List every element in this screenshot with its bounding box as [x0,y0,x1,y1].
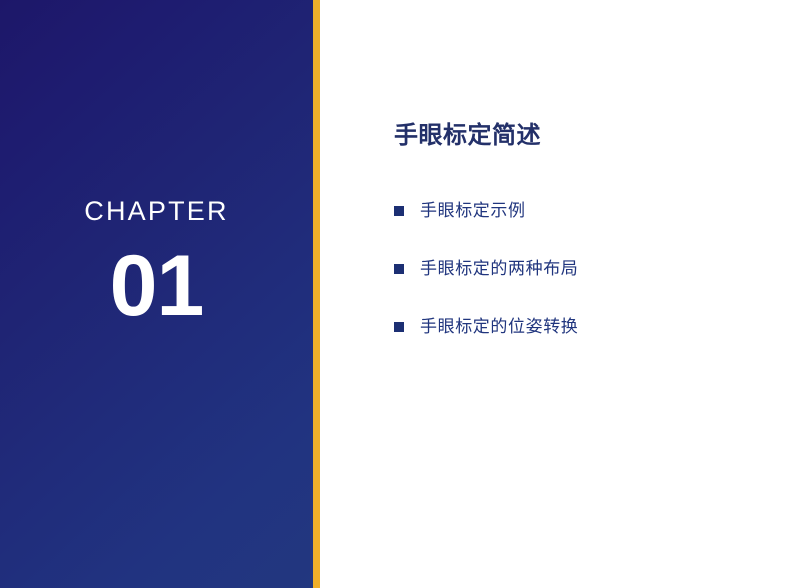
square-bullet-icon [394,264,404,274]
square-bullet-icon [394,322,404,332]
chapter-number: 01 [0,243,313,329]
list-item-label: 手眼标定的两种布局 [420,259,578,279]
chapter-divider-slide: CHAPTER 01 手眼标定简述 手眼标定示例 手眼标定的两种布局 手眼标定的… [0,0,790,588]
list-item-label: 手眼标定的位姿转换 [420,317,578,337]
list-item[interactable]: 手眼标定的两种布局 [394,254,774,284]
content-panel: 手眼标定简述 手眼标定示例 手眼标定的两种布局 手眼标定的位姿转换 [320,0,790,588]
agenda-list: 手眼标定示例 手眼标定的两种布局 手眼标定的位姿转换 [394,196,774,370]
chapter-label: CHAPTER [0,198,313,225]
list-item-label: 手眼标定示例 [420,201,526,221]
square-bullet-icon [394,206,404,216]
page-title: 手眼标定简述 [394,122,541,151]
gold-divider [313,0,320,588]
list-item[interactable]: 手眼标定的位姿转换 [394,312,774,342]
list-item[interactable]: 手眼标定示例 [394,196,774,226]
chapter-panel: CHAPTER 01 [0,0,313,588]
